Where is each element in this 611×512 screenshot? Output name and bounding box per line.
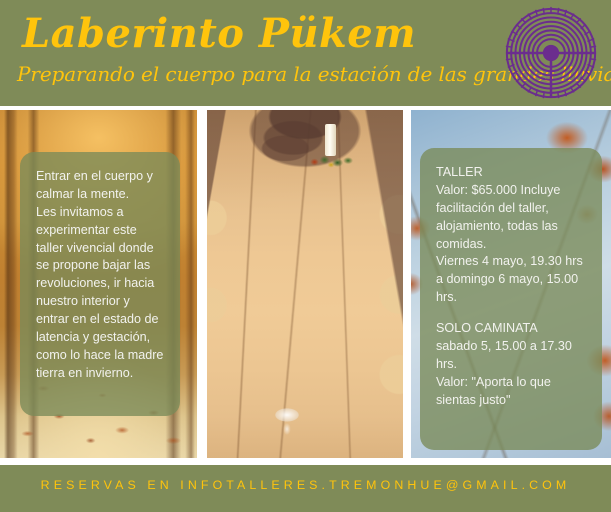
glass-bowl-icon <box>270 406 304 438</box>
details-textbox: TALLER Valor: $65.000 Incluye facilitaci… <box>420 148 602 450</box>
poster-header: Laberinto Pükem Preparando el cuerpo par… <box>0 0 611 106</box>
panel-middle <box>207 110 403 458</box>
wooden-labyrinth-floor-photo <box>207 110 403 458</box>
workshop-heading: TALLER <box>436 164 588 182</box>
candle-icon <box>325 124 336 156</box>
details-spacer <box>436 307 588 320</box>
panel-right: TALLER Valor: $65.000 Incluye facilitaci… <box>411 110 611 458</box>
poster: Laberinto Pükem Preparando el cuerpo par… <box>0 0 611 512</box>
panels-row: Entrar en el cuerpo y calmar la mente. L… <box>0 110 611 460</box>
intro-textbox: Entrar en el cuerpo y calmar la mente. L… <box>20 152 180 416</box>
page-title: Laberinto Pükem <box>22 14 416 54</box>
poster-footer: RESERVAS EN INFOTALLERES.TREMONHUE@GMAIL… <box>0 465 611 512</box>
contact-email-text: RESERVAS EN INFOTALLERES.TREMONHUE@GMAIL… <box>0 478 611 492</box>
flower-wreath-icon <box>309 155 355 169</box>
intro-text: Entrar en el cuerpo y calmar la mente. L… <box>36 168 166 383</box>
walk-only-details: sabado 5, 15.00 a 17.30 hrs. Valor: "Apo… <box>436 338 588 410</box>
walk-only-heading: SOLO CAMINATA <box>436 320 588 338</box>
labyrinth-icon <box>503 5 599 101</box>
workshop-details: Valor: $65.000 Incluye facilitación del … <box>436 182 588 307</box>
panel-left: Entrar en el cuerpo y calmar la mente. L… <box>0 110 197 458</box>
